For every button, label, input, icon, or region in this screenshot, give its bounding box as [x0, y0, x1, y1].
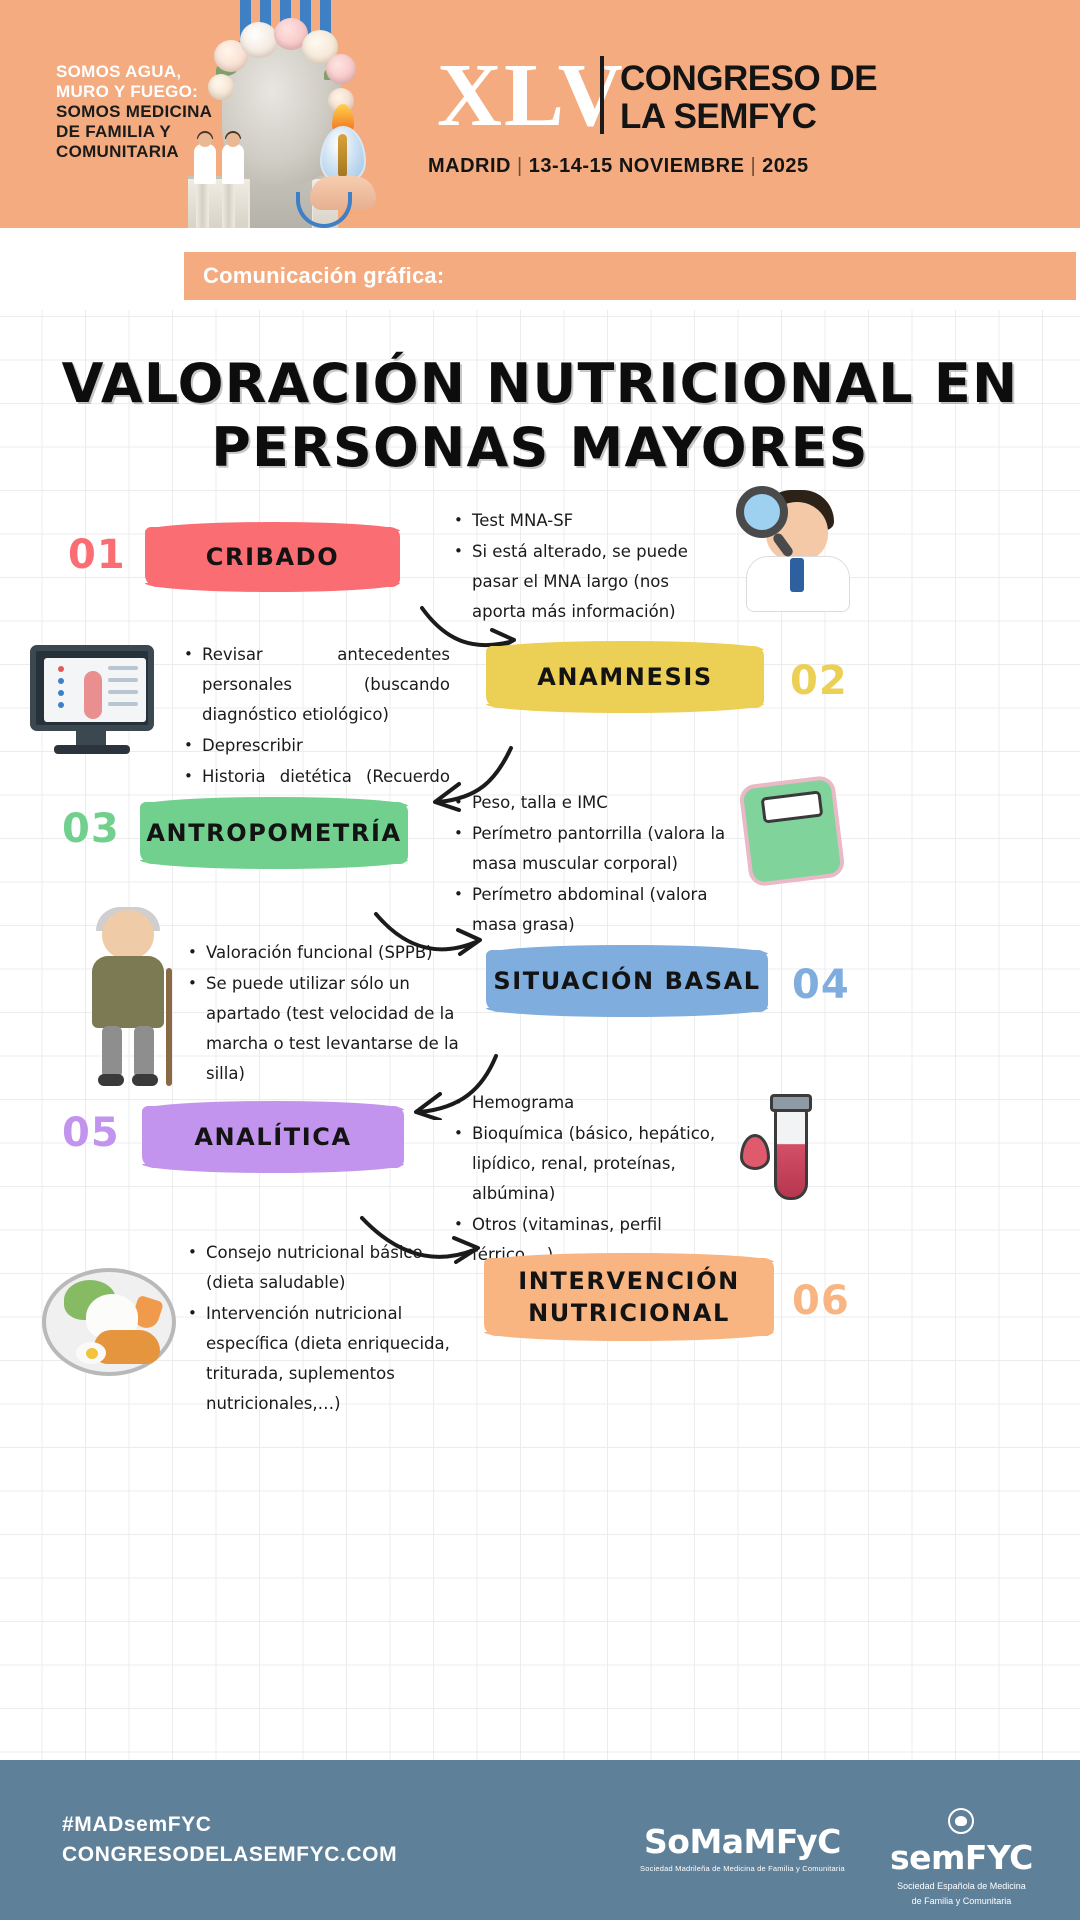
congress-city: MADRID	[428, 155, 511, 177]
doctor-magnifier-icon	[738, 480, 860, 620]
step-03-label: ANTROPOMETRÍA	[146, 819, 401, 847]
congress-title: CONGRESO DE LA SEMFYC	[620, 60, 877, 136]
step-05-bullets: Hemograma Bioquímica (básico, hepático, …	[452, 1088, 742, 1271]
congress-date: MADRID|13-14-15 NOVIEMBRE|2025	[428, 155, 809, 178]
step-06-label: INTERVENCIÓN NUTRICIONAL	[484, 1265, 774, 1329]
step-05-bullet-2: Bioquímica (básico, hepático, lipídico, …	[452, 1119, 742, 1209]
step-04-label: SITUACIÓN BASAL	[493, 967, 760, 995]
poster-page: SOMOS AGUA, MURO Y FUEGO: SOMOS MEDICINA…	[0, 0, 1080, 1920]
date-separator-2: |	[744, 155, 762, 177]
step-04-chip[interactable]: SITUACIÓN BASAL	[486, 950, 768, 1012]
semfyc-mark-icon	[948, 1808, 974, 1834]
step-03-chip[interactable]: ANTROPOMETRÍA	[140, 802, 408, 864]
footer-website[interactable]: CONGRESODELASEMFYC.COM	[62, 1840, 397, 1870]
poster-title-line-1: VALORACIÓN NUTRICIONAL EN	[0, 352, 1080, 416]
semfyc-logo-subtitle-line-1: Sociedad Española de Medicina	[890, 1880, 1033, 1892]
congress-dates: 13-14-15 NOVIEMBRE	[529, 155, 745, 177]
step-04-number: 04	[792, 962, 850, 1008]
step-06-chip[interactable]: INTERVENCIÓN NUTRICIONAL	[484, 1258, 774, 1336]
congress-footer: #MADsemFYC CONGRESODELASEMFYC.COM SoMaMF…	[0, 1760, 1080, 1920]
step-03-bullet-1: Peso, talla e IMC	[452, 788, 752, 818]
step-05-bullet-1: Hemograma	[452, 1088, 742, 1118]
statue-illustration-icon	[178, 0, 398, 228]
blood-test-tube-icon	[740, 1092, 850, 1212]
step-01-bullet-1: Test MNA-SF	[452, 506, 710, 536]
header-divider	[600, 56, 604, 134]
congress-title-line-1: CONGRESO DE	[620, 60, 877, 98]
elderly-person-icon	[78, 910, 188, 1090]
somamfyc-logo: SoMaMFyC Sociedad Madrileña de Medicina …	[640, 1822, 845, 1873]
step-02-bullets: Revisar antecedentes personales (buscand…	[182, 640, 450, 823]
date-separator-1: |	[511, 155, 529, 177]
weight-scale-icon	[744, 780, 854, 895]
step-06-number: 06	[792, 1278, 850, 1324]
step-06-bullets: Consejo nutricional básico (dieta saluda…	[186, 1238, 462, 1420]
step-03-bullet-2: Perímetro pantorrilla (valora la masa mu…	[452, 819, 752, 879]
congress-edition: XLV	[437, 52, 625, 140]
step-04-bullet-1: Valoración funcional (SPPB)	[186, 938, 472, 968]
step-05-label: ANALÍTICA	[194, 1123, 351, 1151]
step-01-chip[interactable]: CRIBADO	[145, 527, 400, 587]
congress-title-line-2: LA SEMFYC	[620, 98, 877, 136]
semfyc-logo: semFYC Sociedad Española de Medicina de …	[890, 1808, 1033, 1907]
step-03-bullet-3: Perímetro abdominal (valora masa grasa)	[452, 880, 752, 940]
congress-year: 2025	[762, 155, 809, 177]
congress-header: SOMOS AGUA, MURO Y FUEGO: SOMOS MEDICINA…	[0, 0, 1080, 228]
step-02-bullet-2: Deprescribir	[182, 731, 450, 761]
step-01-label: CRIBADO	[206, 543, 339, 571]
footer-hashtag[interactable]: #MADsemFYC	[62, 1810, 397, 1840]
step-06-bullet-2: Intervención nutricional específica (die…	[186, 1299, 462, 1419]
computer-monitor-icon	[30, 645, 160, 760]
somamfyc-logo-text: SoMaMFyC	[640, 1822, 845, 1861]
somamfyc-logo-subtitle: Sociedad Madrileña de Medicina de Famili…	[640, 1864, 845, 1873]
step-01-number: 01	[68, 532, 126, 578]
step-02-bullet-1: Revisar antecedentes personales (buscand…	[182, 640, 450, 730]
poster-title: VALORACIÓN NUTRICIONAL EN PERSONAS MAYOR…	[0, 352, 1080, 480]
step-06-bullet-1: Consejo nutricional básico (dieta saluda…	[186, 1238, 462, 1298]
semfyc-logo-text: semFYC	[890, 1838, 1033, 1877]
communication-type-band: Comunicación gráfica:	[184, 252, 1076, 300]
food-plate-icon	[42, 1268, 182, 1383]
semfyc-logo-subtitle-line-2: de Familia y Comunitaria	[890, 1895, 1033, 1907]
step-02-chip[interactable]: ANAMNESIS	[486, 646, 764, 708]
step-02-label: ANAMNESIS	[537, 663, 713, 691]
step-05-number: 05	[62, 1110, 120, 1156]
step-03-bullets: Peso, talla e IMC Perímetro pantorrilla …	[452, 788, 752, 941]
footer-links: #MADsemFYC CONGRESODELASEMFYC.COM	[62, 1810, 397, 1870]
step-03-number: 03	[62, 806, 120, 852]
communication-type-label: Comunicación gráfica:	[184, 263, 444, 289]
step-02-number: 02	[790, 658, 848, 704]
poster-body: VALORACIÓN NUTRICIONAL EN PERSONAS MAYOR…	[0, 310, 1080, 1760]
step-05-chip[interactable]: ANALÍTICA	[142, 1106, 404, 1168]
poster-title-line-2: PERSONAS MAYORES	[0, 416, 1080, 480]
